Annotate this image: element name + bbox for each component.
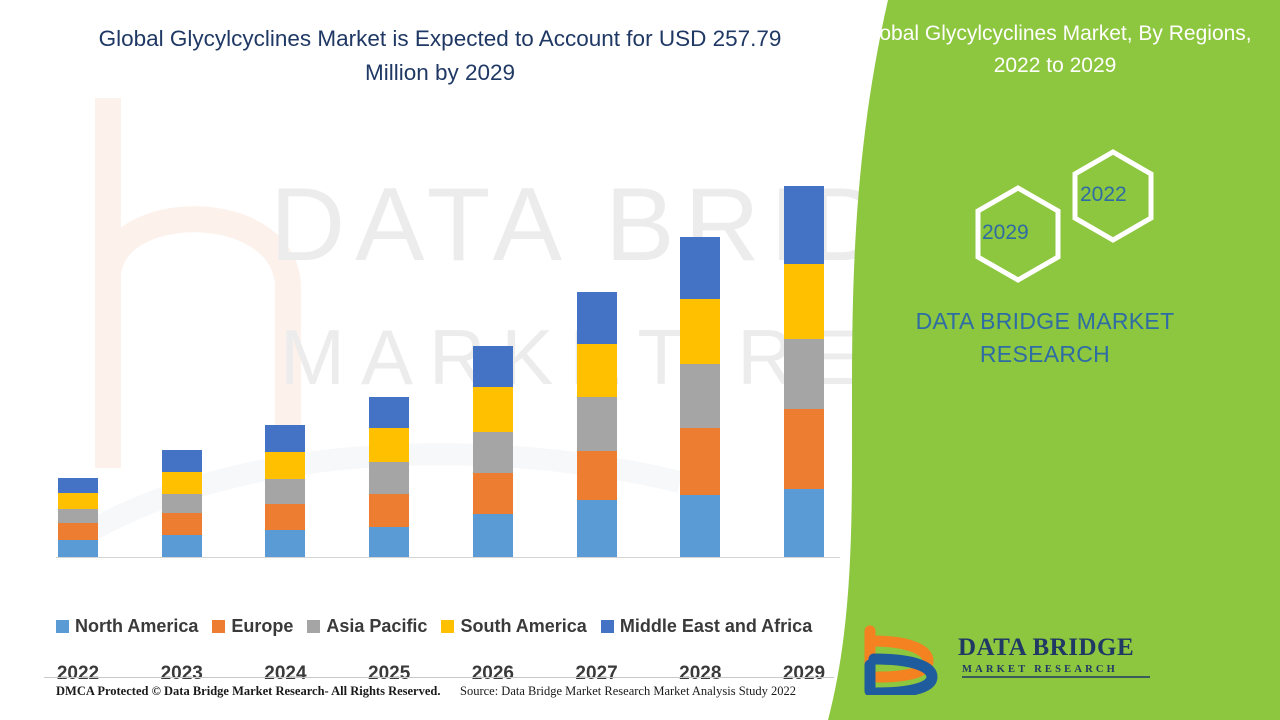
bar-segment[interactable]: [162, 494, 202, 513]
bar-column-2026[interactable]: [473, 346, 513, 557]
legend-item[interactable]: North America: [56, 616, 198, 637]
legend-item[interactable]: Europe: [212, 616, 293, 637]
bar-segment[interactable]: [162, 535, 202, 557]
bar-segment[interactable]: [58, 540, 98, 557]
source-note: Source: Data Bridge Market Research Mark…: [460, 684, 796, 699]
bar-segment[interactable]: [473, 432, 513, 473]
bar-segment[interactable]: [473, 473, 513, 514]
bar-segment[interactable]: [577, 451, 617, 500]
legend-swatch-icon: [441, 620, 454, 633]
logo-tagline: MARKET RESEARCH: [962, 664, 1118, 675]
bar-segment[interactable]: [473, 387, 513, 432]
bar-segment[interactable]: [58, 493, 98, 509]
bar-segment[interactable]: [58, 478, 98, 493]
logo-wordmark: DATA BRIDGE: [958, 634, 1134, 662]
footer-divider: [44, 677, 834, 678]
bar-segment[interactable]: [473, 346, 513, 387]
bar-segment[interactable]: [369, 494, 409, 527]
x-axis-line: [56, 557, 840, 558]
panel-title: Global Glycylcyclines Market, By Regions…: [850, 18, 1260, 82]
bar-column-2023[interactable]: [162, 450, 202, 557]
bar-segment[interactable]: [369, 462, 409, 494]
hexagon-outlines: [930, 140, 1190, 290]
brand-panel: Global Glycylcyclines Market, By Regions…: [810, 0, 1280, 720]
x-axis-label-2025: 2025: [344, 663, 434, 685]
bar-segment[interactable]: [473, 514, 513, 557]
dmca-notice: DMCA Protected © Data Bridge Market Rese…: [56, 684, 441, 699]
legend-swatch-icon: [601, 620, 614, 633]
legend-item[interactable]: Asia Pacific: [307, 616, 427, 637]
bar-column-2025[interactable]: [369, 397, 409, 557]
x-axis-label-2024: 2024: [240, 663, 330, 685]
hexagon-label-2022: 2022: [1080, 183, 1127, 207]
bar-column-2027[interactable]: [577, 292, 617, 557]
legend-label: South America: [460, 616, 586, 637]
bar-column-2022[interactable]: [58, 478, 98, 557]
bar-column-2024[interactable]: [265, 425, 305, 557]
x-axis-label-2026: 2026: [448, 663, 538, 685]
bar-segment[interactable]: [577, 397, 617, 451]
x-axis-label-2023: 2023: [137, 663, 227, 685]
chart-legend: North AmericaEuropeAsia PacificSouth Ame…: [56, 616, 812, 637]
hexagon-group: 2022 2029: [930, 140, 1190, 290]
legend-swatch-icon: [56, 620, 69, 633]
legend-label: Middle East and Africa: [620, 616, 812, 637]
bar-segment[interactable]: [162, 513, 202, 535]
x-axis-label-2022: 2022: [33, 663, 123, 685]
legend-item[interactable]: South America: [441, 616, 586, 637]
bar-segment[interactable]: [577, 292, 617, 344]
bar-segment[interactable]: [162, 450, 202, 472]
brand-line-1: DATA BRIDGE MARKET: [916, 308, 1175, 334]
bar-column-2028[interactable]: [680, 237, 720, 557]
legend-swatch-icon: [307, 620, 320, 633]
hexagon-label-2029: 2029: [982, 221, 1029, 245]
legend-label: Europe: [231, 616, 293, 637]
bar-segment[interactable]: [577, 500, 617, 557]
bar-segment[interactable]: [680, 428, 720, 495]
legend-item[interactable]: Middle East and Africa: [601, 616, 812, 637]
bar-segment[interactable]: [369, 428, 409, 462]
x-axis-label-2027: 2027: [552, 663, 642, 685]
legend-label: North America: [75, 616, 198, 637]
x-axis-label-2028: 2028: [655, 663, 745, 685]
chart-title: Global Glycylcyclines Market is Expected…: [90, 22, 790, 90]
brand-name: DATA BRIDGE MARKET RESEARCH: [840, 305, 1250, 371]
bar-segment[interactable]: [680, 237, 720, 299]
bar-segment[interactable]: [265, 452, 305, 479]
bar-segment[interactable]: [265, 425, 305, 452]
bar-segment[interactable]: [265, 479, 305, 504]
bar-segment[interactable]: [58, 523, 98, 540]
bar-segment[interactable]: [369, 527, 409, 557]
bar-segment[interactable]: [265, 504, 305, 530]
bar-segment[interactable]: [577, 344, 617, 397]
legend-swatch-icon: [212, 620, 225, 633]
bar-segment[interactable]: [680, 364, 720, 428]
bar-segment[interactable]: [58, 509, 98, 523]
bar-segment[interactable]: [369, 397, 409, 428]
bar-segment[interactable]: [265, 530, 305, 557]
bar-segment[interactable]: [162, 472, 202, 494]
legend-label: Asia Pacific: [326, 616, 427, 637]
brand-line-2: RESEARCH: [980, 341, 1110, 367]
chart-plot-area: 20222023202420252026202720282029: [40, 90, 840, 560]
bar-segment[interactable]: [680, 495, 720, 557]
bar-segment[interactable]: [680, 299, 720, 364]
